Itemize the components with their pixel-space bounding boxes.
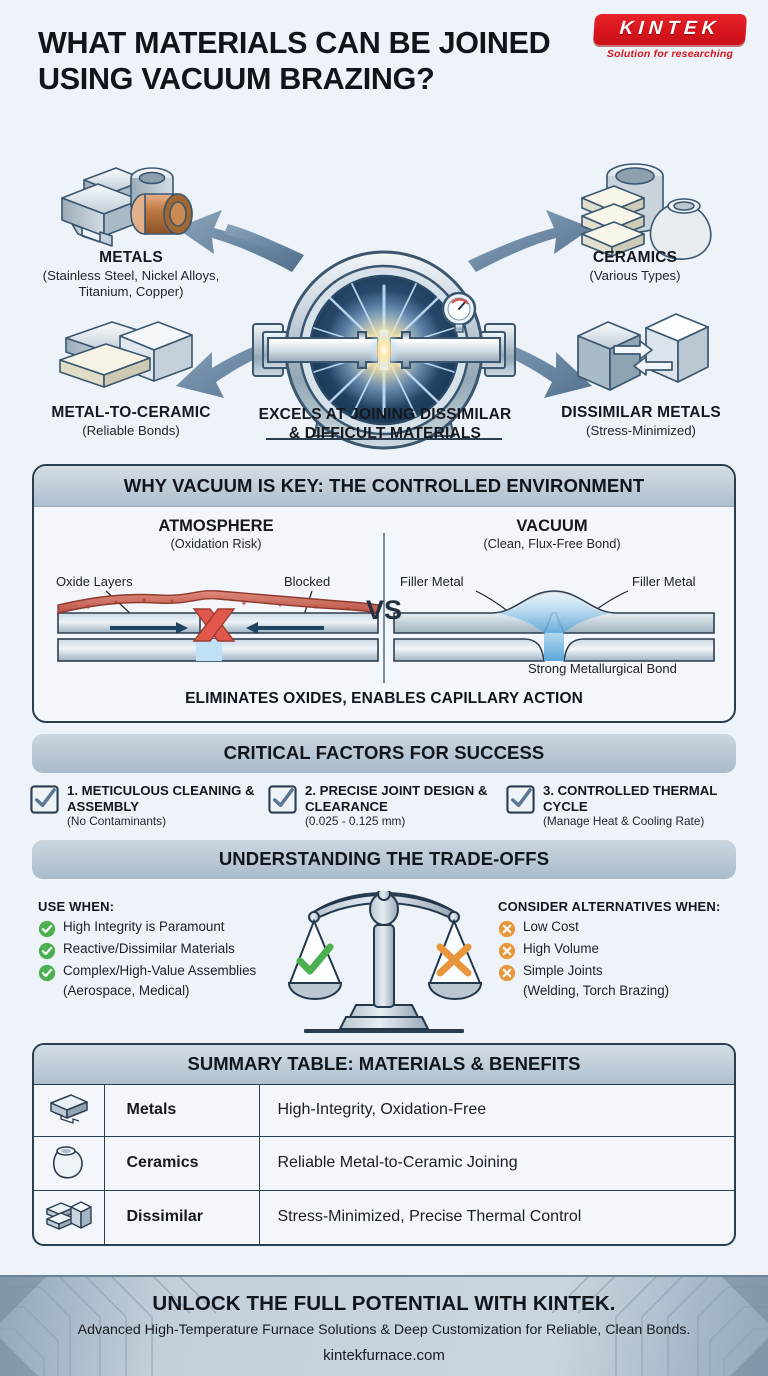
check-circle-icon xyxy=(38,920,56,938)
i-beam-icon xyxy=(47,1091,91,1125)
tradeoffs-header: UNDERSTANDING THE TRADE-OFFS xyxy=(32,840,736,879)
x-circle-icon xyxy=(498,942,516,960)
footer-headline: UNLOCK THE FULL POTENTIAL WITH KINTEK. xyxy=(0,1277,768,1316)
alternatives-heading: CONSIDER ALTERNATIVES WHEN: xyxy=(498,899,748,914)
vacuum-panel: VACUUM (Clean, Flux-Free Bond) xyxy=(384,517,720,684)
check-circle-icon xyxy=(38,964,56,982)
footer-url[interactable]: kintekfurnace.com xyxy=(0,1347,768,1364)
hero-item-ceramics: CERAMICS (Various Types) xyxy=(530,249,740,284)
alternatives-note: (Welding, Torch Brazing) xyxy=(523,983,748,999)
atmosphere-subtitle: (Oxidation Risk) xyxy=(48,536,384,551)
vacuum-subtitle: (Clean, Flux-Free Bond) xyxy=(384,536,720,551)
summary-table-header: SUMMARY TABLE: MATERIALS & BENEFITS xyxy=(34,1045,734,1085)
factor-title: 2. PRECISE JOINT DESIGN & CLEARANCE xyxy=(305,783,500,814)
oxide-layers-label: Oxide Layers xyxy=(56,574,133,589)
page-title: WHAT MATERIALS CAN BE JOINED USING VACUU… xyxy=(38,26,618,97)
page-footer: UNLOCK THE FULL POTENTIAL WITH KINTEK. A… xyxy=(0,1275,768,1376)
row-name: Dissimilar xyxy=(104,1190,259,1244)
use-when-text: High Integrity is Paramount xyxy=(63,919,225,935)
atmosphere-panel: ATMOSPHERE (Oxidation Risk) xyxy=(48,517,384,684)
row-icon-cell xyxy=(34,1136,104,1190)
factor-subtitle: (Manage Heat & Cooling Rate) xyxy=(543,815,738,829)
alternatives-item: High Volume xyxy=(498,941,748,960)
logo-wordmark: KINTEK xyxy=(601,18,739,40)
hero-center-caption-line1: EXCELS AT JOINING DISSIMILAR xyxy=(250,406,520,425)
factor-title: 1. METICULOUS CLEANING & ASSEMBLY xyxy=(67,783,262,814)
logo-plate: KINTEK xyxy=(593,14,747,45)
hero-item-title: METAL-TO-CERAMIC xyxy=(12,404,250,422)
vacuum-diagram: Filler Metal Filler Metal Strong Metallu… xyxy=(384,551,724,679)
hero-item-title: METALS xyxy=(22,249,240,267)
two-cubes-icon xyxy=(578,314,708,390)
factor-title: 3. CONTROLLED THERMAL CYCLE xyxy=(543,783,738,814)
hero-item-metal-to-ceramic: METAL-TO-CERAMIC (Reliable Bonds) xyxy=(12,404,250,439)
check-circle-icon xyxy=(38,942,56,960)
use-when-text: Complex/High-Value Assemblies xyxy=(63,963,256,979)
row-name: Metals xyxy=(104,1085,259,1137)
summary-table-body: Metals High-Integrity, Oxidation-Free Ce… xyxy=(34,1085,734,1244)
atmosphere-title: ATMOSPHERE xyxy=(48,517,384,536)
factor-item[interactable]: 1. METICULOUS CLEANING & ASSEMBLY (No Co… xyxy=(30,783,262,829)
alternatives-text: High Volume xyxy=(523,941,599,957)
balance-scale-icon xyxy=(286,891,482,1037)
vacuum-card: WHY VACUUM IS KEY: THE CONTROLLED ENVIRO… xyxy=(32,464,736,723)
row-benefit: Reliable Metal-to-Ceramic Joining xyxy=(259,1136,734,1190)
row-benefit: High-Integrity, Oxidation-Free xyxy=(259,1085,734,1137)
footer-subline: Advanced High-Temperature Furnace Soluti… xyxy=(0,1322,768,1338)
hero-diagram: METALS (Stainless Steel, Nickel Alloys, … xyxy=(0,136,768,456)
filler-metal-right-label: Filler Metal xyxy=(632,574,696,589)
hero-item-dissimilar-metals: DISSIMILAR METALS (Stress-Minimized) xyxy=(526,404,756,439)
hero-item-metals: METALS (Stainless Steel, Nickel Alloys, … xyxy=(22,249,240,300)
critical-factors-list: 1. METICULOUS CLEANING & ASSEMBLY (No Co… xyxy=(30,783,738,829)
checkbox-icon[interactable] xyxy=(268,785,297,814)
critical-factors-header: CRITICAL FACTORS FOR SUCCESS xyxy=(32,734,736,773)
atmosphere-diagram: Oxide Layers Blocked xyxy=(48,551,388,679)
row-icon-cell xyxy=(34,1190,104,1244)
filler-metal-left-label: Filler Metal xyxy=(400,574,464,589)
ceramic-shapes-icon xyxy=(582,164,711,259)
x-circle-icon xyxy=(498,964,516,982)
table-row: Ceramics Reliable Metal-to-Ceramic Joini… xyxy=(34,1136,734,1190)
checkbox-icon[interactable] xyxy=(506,785,535,814)
vacuum-card-header: WHY VACUUM IS KEY: THE CONTROLLED ENVIRO… xyxy=(34,466,734,507)
hero-center-caption-line2: & DIFFICULT MATERIALS xyxy=(250,425,520,444)
checkbox-icon[interactable] xyxy=(30,785,59,814)
tradeoffs-section: USE WHEN: High Integrity is Paramount Re… xyxy=(0,885,768,1035)
summary-table: SUMMARY TABLE: MATERIALS & BENEFITS Meta… xyxy=(32,1043,736,1246)
alternatives-column: CONSIDER ALTERNATIVES WHEN: Low Cost Hig… xyxy=(498,899,748,999)
pot-icon xyxy=(49,1143,89,1179)
x-circle-icon xyxy=(498,920,516,938)
alternatives-text: Low Cost xyxy=(523,919,579,935)
mixed-parts-icon xyxy=(45,1197,93,1233)
use-when-item: High Integrity is Paramount xyxy=(38,919,293,938)
hero-center-caption: EXCELS AT JOINING DISSIMILAR & DIFFICULT… xyxy=(250,406,520,443)
hero-item-title: DISSIMILAR METALS xyxy=(526,404,756,422)
table-row: Metals High-Integrity, Oxidation-Free xyxy=(34,1085,734,1137)
blocked-label: Blocked xyxy=(284,574,330,589)
use-when-item: Reactive/Dissimilar Materials xyxy=(38,941,293,960)
brand-logo: KINTEK Solution for researching xyxy=(594,14,746,60)
metal-shapes-icon xyxy=(62,168,192,246)
row-name: Ceramics xyxy=(104,1136,259,1190)
vacuum-title: VACUUM xyxy=(384,517,720,536)
table-row: Dissimilar Stress-Minimized, Precise The… xyxy=(34,1190,734,1244)
factor-item[interactable]: 2. PRECISE JOINT DESIGN & CLEARANCE (0.0… xyxy=(268,783,500,829)
metal-ceramic-icon xyxy=(60,322,192,387)
logo-tagline: Solution for researching xyxy=(594,48,746,60)
use-when-note: (Aerospace, Medical) xyxy=(63,983,293,999)
strong-bond-label: Strong Metallurgical Bond xyxy=(528,661,677,676)
factor-subtitle: (0.025 - 0.125 mm) xyxy=(305,815,500,829)
use-when-item: Complex/High-Value Assemblies xyxy=(38,963,293,982)
factor-subtitle: (No Contaminants) xyxy=(67,815,262,829)
hero-item-subtitle: (Stress-Minimized) xyxy=(526,423,756,439)
use-when-column: USE WHEN: High Integrity is Paramount Re… xyxy=(38,899,293,999)
hero-item-title: CERAMICS xyxy=(530,249,740,267)
page-header: WHAT MATERIALS CAN BE JOINED USING VACUU… xyxy=(0,0,768,136)
use-when-text: Reactive/Dissimilar Materials xyxy=(63,941,235,957)
hero-item-subtitle: (Stainless Steel, Nickel Alloys, Titaniu… xyxy=(22,268,240,300)
vacuum-card-body: ATMOSPHERE (Oxidation Risk) xyxy=(34,507,734,721)
factor-item[interactable]: 3. CONTROLLED THERMAL CYCLE (Manage Heat… xyxy=(506,783,738,829)
alternatives-text: Simple Joints xyxy=(523,963,603,979)
vs-label: VS xyxy=(366,595,402,626)
hero-item-subtitle: (Reliable Bonds) xyxy=(12,423,250,439)
use-when-heading: USE WHEN: xyxy=(38,899,293,914)
row-icon-cell xyxy=(34,1085,104,1137)
row-benefit: Stress-Minimized, Precise Thermal Contro… xyxy=(259,1190,734,1244)
alternatives-item: Low Cost xyxy=(498,919,748,938)
alternatives-item: Simple Joints xyxy=(498,963,748,982)
vacuum-card-footer: ELIMINATES OXIDES, ENABLES CAPILLARY ACT… xyxy=(48,684,720,713)
hero-item-subtitle: (Various Types) xyxy=(530,268,740,284)
